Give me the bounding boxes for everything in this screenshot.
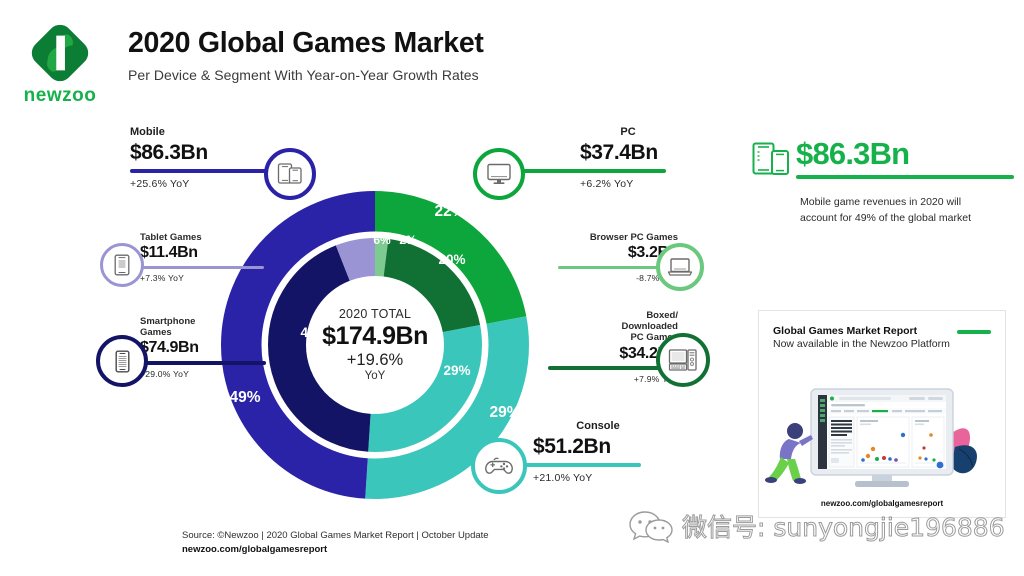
inner-pct-boxed-pc: 20% [438, 252, 465, 267]
callout-smartphone-yoy: +29.0% YoY [140, 369, 260, 379]
inner-pct-console: 29% [443, 363, 470, 378]
callout-mobile-label: Mobile [130, 126, 280, 139]
callout-smartphone-rule [140, 361, 266, 365]
footer: Source: ©Newzoo | 2020 Global Games Mark… [182, 530, 642, 555]
mobile-devices-icon [752, 142, 790, 182]
donut-center-label: 2020 TOTAL $174.9Bn +19.6% YoY [309, 308, 441, 382]
callout-boxed-pc-label-line3: PC Games [548, 332, 678, 343]
callout-mobile: Mobile $86.3Bn +25.6% YoY [130, 126, 280, 190]
callout-mobile-rule [130, 169, 282, 173]
promo-illustration [759, 379, 1005, 491]
callout-boxed-pc-label-line2: Downloaded [548, 321, 678, 332]
outer-pct-pc: 22% [434, 203, 465, 220]
page-subtitle: Per Device & Segment With Year-on-Year G… [128, 67, 484, 83]
callout-pc-icon-circle[interactable] [473, 148, 525, 200]
inner-pct-browser-pc: 2% [399, 233, 417, 247]
inner-pct-tablet: 6% [373, 233, 391, 247]
callout-tablet-icon-circle[interactable] [100, 243, 144, 287]
callout-mobile-value: $86.3Bn [130, 141, 280, 164]
callout-console: Console $51.2Bn +21.0% YoY [533, 420, 693, 484]
callout-mobile-yoy: +25.6% YoY [130, 178, 280, 190]
wechat-watermark: 微信号: sunyongjie196886 [628, 508, 1005, 544]
mobile-highlight-stat: $86.3Bn Mobile game revenues in 2020 wil… [752, 138, 1014, 227]
mobile-highlight-rule [796, 175, 1014, 179]
callout-smartphone-label-line1: Smartphone [140, 316, 260, 327]
promo-accent-dash [957, 330, 991, 334]
callout-boxed-pc-label-line1: Boxed/ [548, 310, 678, 321]
callout-mobile-icon-circle[interactable] [264, 148, 316, 200]
center-growth-value: +19.6% [309, 353, 441, 370]
promo-subtitle: Now available in the Newzoo Platform [773, 338, 951, 352]
callout-pc-value: $37.4Bn [580, 141, 740, 164]
callout-boxed-pc-yoy: +7.9% YoY [548, 374, 678, 384]
callout-tablet-value: $11.4Bn [140, 244, 260, 262]
desktop-computer-icon [668, 348, 698, 372]
callout-smartphone-value: $74.9Bn [140, 339, 260, 357]
wechat-icon [628, 509, 674, 543]
callout-pc-yoy: +6.2% YoY [580, 178, 740, 190]
gamepad-icon [484, 456, 514, 476]
newzoo-diamond-logo-icon [29, 22, 91, 84]
outer-pct-console: 29% [489, 404, 520, 421]
callout-console-label: Console [533, 420, 663, 433]
newzoo-logo: newzoo [18, 22, 102, 107]
footer-url[interactable]: newzoo.com/globalgamesreport [182, 544, 642, 555]
callout-pc-rule [520, 169, 666, 173]
smartphone-icon [115, 350, 130, 373]
callout-browser-pc-label: Browser PC Games [558, 232, 678, 243]
callout-boxed-pc-icon-circle[interactable] [656, 333, 710, 387]
header: newzoo 2020 Global Games Market Per Devi… [18, 22, 484, 107]
monitor-icon [486, 162, 512, 186]
callout-console-yoy: +21.0% YoY [533, 472, 693, 484]
callout-pc: PC $37.4Bn +6.2% YoY [580, 126, 740, 190]
logo-wordmark: newzoo [24, 85, 97, 107]
callout-smartphone-icon-circle[interactable] [96, 335, 148, 387]
callout-console-value: $51.2Bn [533, 435, 693, 458]
footer-source: Source: ©Newzoo | 2020 Global Games Mark… [182, 530, 642, 541]
phone-and-tablet-icon [277, 162, 303, 186]
promo-card[interactable]: Global Games Market Report Now available… [758, 310, 1006, 518]
infographic-root: newzoo 2020 Global Games Market Per Devi… [0, 0, 1024, 576]
outer-pct-mobile: 49% [229, 389, 260, 406]
callout-smartphone-label-line2: Games [140, 327, 260, 338]
tablet-icon [114, 254, 130, 276]
callout-tablet-rule [140, 266, 264, 269]
center-total-label: 2020 TOTAL [309, 308, 441, 321]
callout-smartphone: Smartphone Games $74.9Bn +29.0% YoY [140, 316, 260, 379]
center-growth-unit: YoY [309, 370, 441, 382]
laptop-icon [667, 257, 693, 277]
callout-pc-label: PC [580, 126, 676, 139]
center-total-value: $174.9Bn [309, 323, 441, 349]
callout-tablet: Tablet Games $11.4Bn +7.3% YoY [140, 232, 260, 283]
callout-tablet-yoy: +7.3% YoY [140, 273, 260, 283]
person-pushing-monitor-dashboard-illustration [759, 379, 1007, 491]
callout-console-icon-circle[interactable] [471, 438, 527, 494]
mobile-highlight-value: $86.3Bn [796, 138, 1014, 169]
watermark-text: 微信号: sunyongjie196886 [682, 508, 1005, 544]
promo-title: Global Games Market Report [773, 325, 951, 337]
callout-browser-pc-icon-circle[interactable] [656, 243, 704, 291]
page-title: 2020 Global Games Market [128, 28, 484, 60]
mobile-highlight-text: Mobile game revenues in 2020 will accoun… [800, 195, 988, 227]
promo-url[interactable]: newzoo.com/globalgamesreport [759, 499, 1005, 508]
callout-tablet-label: Tablet Games [140, 232, 260, 243]
